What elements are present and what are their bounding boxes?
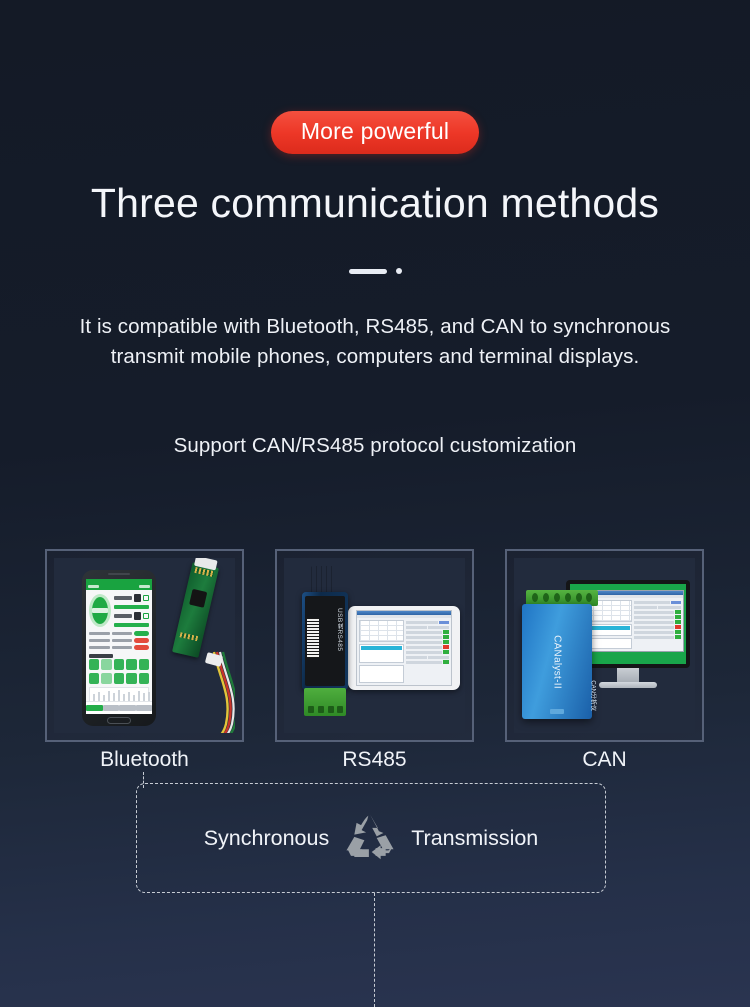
rs485-software-window: [357, 611, 451, 685]
device-card-row: USB转RS485: [45, 549, 705, 742]
rs485-adapter-icon: USB转RS485: [302, 592, 348, 690]
barcode-label: [307, 618, 319, 658]
smartphone-icon: [82, 570, 156, 726]
adapter-label-text: USB转RS485: [331, 608, 343, 674]
transmission-label: Transmission: [411, 826, 538, 851]
card-label-row: Bluetooth RS485 CAN: [45, 748, 705, 778]
app-gauge-section: [86, 590, 152, 629]
page-title: Three communication methods: [0, 181, 750, 227]
usb-connector-icon: [311, 566, 335, 594]
app-status-rows: [86, 629, 152, 652]
rs485-terminal-block: [304, 688, 346, 716]
card-rs485-image: USB转RS485: [284, 558, 465, 733]
monitor-base: [599, 682, 657, 688]
synchronous-transmission-content: Synchronous Transmission: [136, 783, 606, 893]
app-icon-grid: [86, 659, 152, 684]
label-bluetooth: Bluetooth: [45, 748, 244, 778]
divider-dot: [396, 268, 402, 274]
badge-container: More powerful: [0, 111, 750, 154]
card-can-image: CANalyst-II CAN分析仪: [514, 558, 695, 733]
canalyst-device-icon: CANalyst-II CAN分析仪: [522, 604, 592, 719]
canalyst-brand-text: CANalyst-II: [552, 635, 563, 689]
bluetooth-module-icon: [172, 562, 219, 658]
connector-line-bottom: [374, 893, 375, 1007]
card-can[interactable]: CANalyst-II CAN分析仪: [505, 549, 704, 742]
support-text: Support CAN/RS485 protocol customization: [0, 434, 750, 458]
more-powerful-badge: More powerful: [271, 111, 479, 154]
description-text: It is compatible with Bluetooth, RS485, …: [55, 312, 695, 372]
tablet-icon: [348, 606, 460, 690]
monitor-stand: [617, 668, 639, 682]
card-rs485[interactable]: USB转RS485: [275, 549, 474, 742]
canalyst-usb-port: [550, 709, 564, 714]
label-rs485: RS485: [275, 748, 474, 778]
tablet-screen: [356, 610, 452, 686]
canalyst-side-text: CAN分析仪: [590, 680, 599, 711]
synchronous-label: Synchronous: [204, 826, 330, 851]
app-header: [86, 583, 152, 590]
app-readouts: [114, 594, 149, 627]
battery-gauge: [89, 594, 111, 627]
decorative-divider: [0, 268, 750, 274]
phone-speaker: [108, 573, 130, 575]
recycle-icon: [341, 810, 399, 866]
card-bluetooth-image: [54, 558, 235, 733]
label-can: CAN: [505, 748, 704, 778]
divider-bar: [349, 269, 387, 274]
promo-page: More powerful Three communication method…: [0, 0, 750, 1007]
phone-home-button: [107, 717, 131, 724]
card-bluetooth[interactable]: [45, 549, 244, 742]
app-section-title: [89, 654, 113, 658]
app-bottom-nav: [86, 701, 152, 714]
phone-screen: [86, 579, 152, 714]
